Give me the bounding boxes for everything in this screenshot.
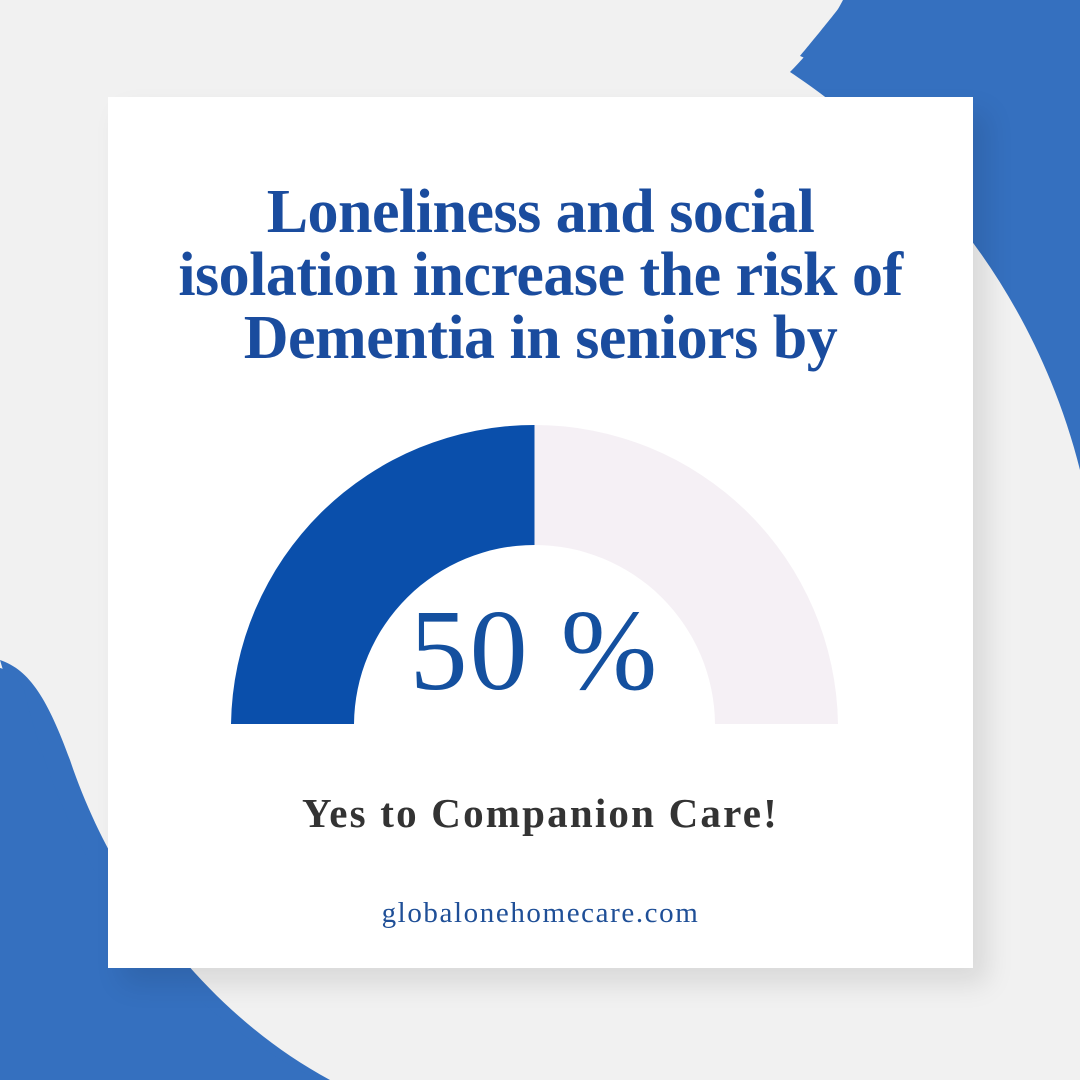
gauge-value-label: 50 % xyxy=(231,593,838,709)
website-url[interactable]: globalonehomecare.com xyxy=(156,897,925,930)
page-title: Loneliness and social isolation increase… xyxy=(156,181,925,371)
content-card: Loneliness and social isolation increase… xyxy=(108,97,973,968)
infographic-canvas: Loneliness and social isolation increase… xyxy=(0,0,1080,1080)
gauge-chart: 50 % xyxy=(231,425,838,725)
tagline-text: Yes to Companion Care! xyxy=(156,789,925,837)
